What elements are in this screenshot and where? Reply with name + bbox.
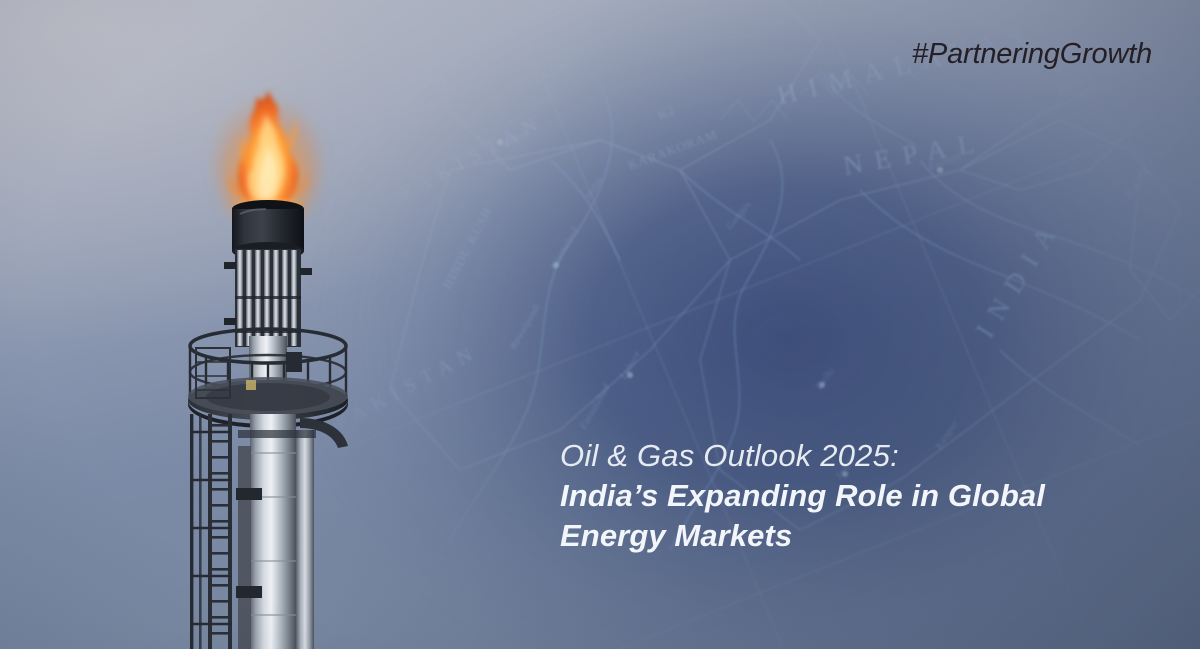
headline-line-3: Energy Markets: [560, 516, 1160, 556]
hashtag-partnering-growth: #PartneringGrowth: [912, 38, 1152, 71]
flare-stack-lower: [236, 414, 348, 649]
flare-access-ladder: [190, 414, 232, 649]
flare-burner-tubes: [224, 249, 312, 347]
headline-line-2: India’s Expanding Role in Global: [560, 476, 1160, 516]
headline-block: Oil & Gas Outlook 2025: India’s Expandin…: [560, 436, 1160, 556]
banner-root: AFGHANISTANTAJIKISTANPAKISTANHINDU KUSHP…: [0, 0, 1200, 649]
headline-line-1: Oil & Gas Outlook 2025:: [560, 436, 1160, 476]
